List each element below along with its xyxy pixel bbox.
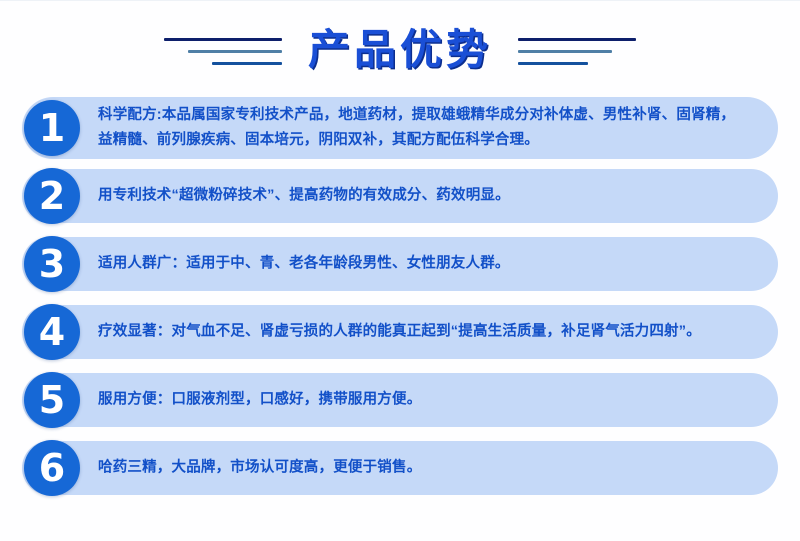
list-item: 6 哈药三精，大品牌，市场认可度高，更便于销售。 <box>0 437 800 499</box>
item-text: 哈药三精，大品牌，市场认可度高，更便于销售。 <box>98 456 770 481</box>
item-text-line: 用专利技术“超微粉碎技术”、提高药物的有效成分、药效明显。 <box>98 184 770 209</box>
list-item: 1 科学配方:本品属国家专利技术产品，地道药材，提取雄蛾精华成分对补体虚、男性补… <box>0 97 800 159</box>
list-item: 5 服用方便：口服液剂型，口感好，携带服用方便。 <box>0 369 800 431</box>
item-number-badge: 5 <box>24 372 80 428</box>
item-text: 服用方便：口服液剂型，口感好，携带服用方便。 <box>98 388 770 413</box>
item-text: 适用人群广：适用于中、青、老各年龄段男性、女性朋友人群。 <box>98 252 770 277</box>
item-text-line: 疗效显著：对气血不足、肾虚亏损的人群的能真正起到“提高生活质量，补足肾气活力四射… <box>98 320 770 345</box>
deco-line-top-left <box>164 38 282 41</box>
item-number-badge: 2 <box>24 168 80 224</box>
page-title: 产品优势 <box>308 29 492 71</box>
item-text: 用专利技术“超微粉碎技术”、提高药物的有效成分、药效明显。 <box>98 184 770 209</box>
item-text-line: 服用方便：口服液剂型，口感好，携带服用方便。 <box>98 388 770 413</box>
item-number-label: 5 <box>39 381 65 419</box>
deco-line-middle-left <box>188 50 282 53</box>
item-number-badge: 6 <box>24 440 80 496</box>
decorative-lines-right <box>518 26 636 74</box>
list-item: 4 疗效显著：对气血不足、肾虚亏损的人群的能真正起到“提高生活质量，补足肾气活力… <box>0 301 800 363</box>
item-text: 疗效显著：对气血不足、肾虚亏损的人群的能真正起到“提高生活质量，补足肾气活力四射… <box>98 320 770 345</box>
deco-line-bottom-left <box>212 62 282 65</box>
item-number-label: 3 <box>39 245 65 283</box>
poster-header: 产品优势 <box>0 19 800 81</box>
deco-line-top-right <box>518 38 636 41</box>
item-number-label: 1 <box>39 109 65 147</box>
item-text-line: 益精髓、前列腺疾病、固本培元，阴阳双补，其配方配伍科学合理。 <box>98 128 770 153</box>
deco-line-middle-right <box>518 50 612 53</box>
list-item: 3 适用人群广：适用于中、青、老各年龄段男性、女性朋友人群。 <box>0 233 800 295</box>
item-text: 科学配方:本品属国家专利技术产品，地道药材，提取雄蛾精华成分对补体虚、男性补肾、… <box>98 103 770 153</box>
item-text-line: 适用人群广：适用于中、青、老各年龄段男性、女性朋友人群。 <box>98 252 770 277</box>
product-advantages-poster: 产品优势 1 科学配方:本品属国家专利技术产品，地道药材，提取雄蛾精华成分对补体… <box>0 0 800 541</box>
item-number-badge: 4 <box>24 304 80 360</box>
item-number-label: 4 <box>39 313 65 351</box>
decorative-lines-left <box>164 26 282 74</box>
item-number-label: 2 <box>39 177 65 215</box>
item-text-line: 科学配方:本品属国家专利技术产品，地道药材，提取雄蛾精华成分对补体虚、男性补肾、… <box>98 103 770 128</box>
item-text-line: 哈药三精，大品牌，市场认可度高，更便于销售。 <box>98 456 770 481</box>
deco-line-bottom-right <box>518 62 588 65</box>
list-item: 2 用专利技术“超微粉碎技术”、提高药物的有效成分、药效明显。 <box>0 165 800 227</box>
advantage-list: 1 科学配方:本品属国家专利技术产品，地道药材，提取雄蛾精华成分对补体虚、男性补… <box>0 97 800 505</box>
item-number-label: 6 <box>39 449 65 487</box>
item-number-badge: 1 <box>24 100 80 156</box>
item-number-badge: 3 <box>24 236 80 292</box>
